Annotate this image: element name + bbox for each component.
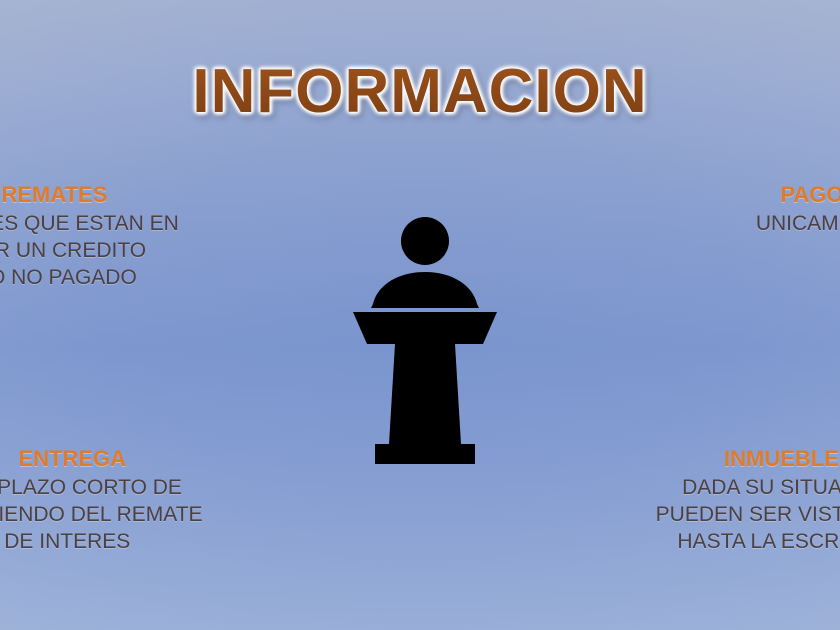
block-line: PIEDADES QUE ESTAN EN (0, 210, 179, 237)
podium-speaker-icon (345, 216, 505, 468)
block-line: NTIA POR UN CREDITO (0, 237, 179, 264)
block-heading-remates: REMATES (0, 182, 179, 208)
block-heading-inmuebles: INMUEBLES (656, 446, 840, 472)
block-line: DE UN PLAZO CORTO DE (0, 474, 203, 501)
text-block-remates: REMATES PIEDADES QUE ESTAN EN NTIA POR U… (0, 182, 179, 291)
title-area: INFORMACION (0, 56, 840, 127)
block-line: HASTA LA ESCRITURA (656, 528, 840, 555)
block-line: TECARIO NO PAGADO (0, 264, 179, 291)
text-block-entrega: ENTREGA DE UN PLAZO CORTO DE EPENDIENDO … (0, 446, 203, 555)
block-heading-entrega: ENTREGA (0, 446, 203, 472)
block-line: DE INTERES (0, 528, 203, 555)
block-line: UNICAMENTE CONT (756, 210, 840, 237)
page-title: INFORMACION (192, 56, 647, 127)
presentation-slide: INFORMACION REMATES PIEDADES QUE ESTAN E… (0, 0, 840, 630)
block-line: EPENDIENDO DEL REMATE (0, 501, 203, 528)
text-block-pago: PAGO UNICAMENTE CONT (756, 182, 840, 237)
block-heading-pago: PAGO (756, 182, 840, 208)
block-line: DADA SU SITUACION LE (656, 474, 840, 501)
block-line: PUEDEN SER VISTOS POR (656, 501, 840, 528)
text-block-inmuebles: INMUEBLES DADA SU SITUACION LE PUEDEN SE… (656, 446, 840, 555)
